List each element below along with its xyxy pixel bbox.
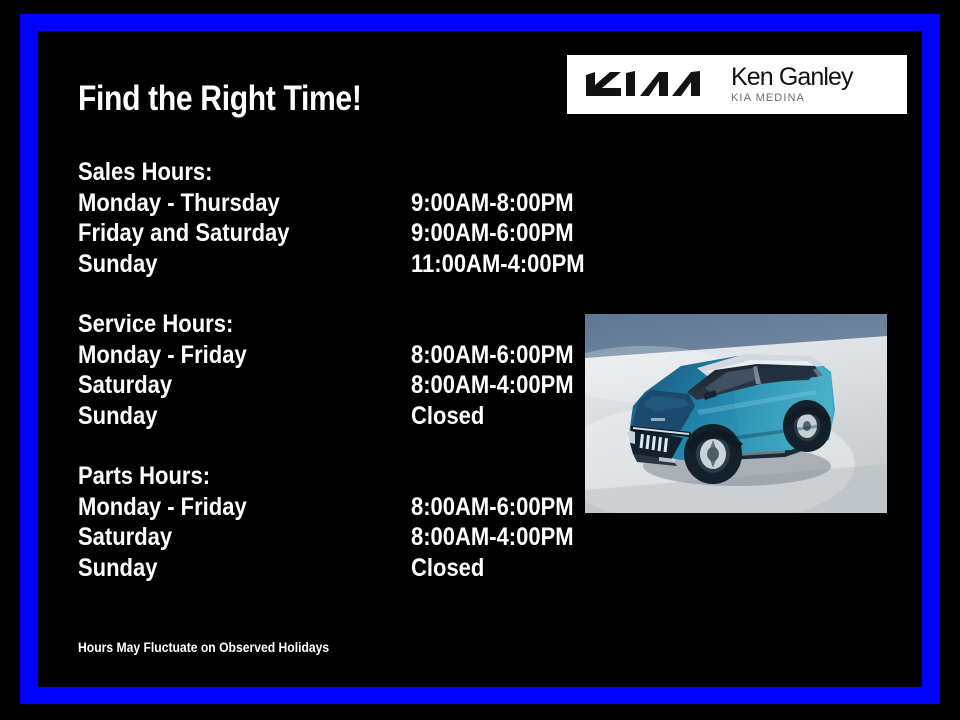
day-label: Sunday bbox=[78, 553, 157, 584]
time-value: 9:00AM-8:00PM bbox=[411, 188, 574, 219]
time-value: 9:00AM-6:00PM bbox=[411, 218, 574, 249]
dealer-logo-panel: Ken Ganley KIA MEDINA bbox=[567, 55, 907, 114]
hours-row: Sunday 11:00AM-4:00PM bbox=[78, 249, 231, 280]
hours-section-parts: Parts Hours: Monday - Friday 8:00AM-6:00… bbox=[78, 461, 228, 583]
time-value: 8:00AM-4:00PM bbox=[411, 370, 574, 401]
hours-section-service: Service Hours: Monday - Friday 8:00AM-6:… bbox=[78, 309, 254, 431]
time-value: Closed bbox=[411, 401, 484, 432]
hours-row: Monday - Thursday 9:00AM-8:00PM bbox=[78, 188, 231, 219]
day-label: Monday - Friday bbox=[78, 340, 247, 371]
dealer-location: KIA MEDINA bbox=[731, 93, 853, 104]
day-label: Saturday bbox=[78, 370, 172, 401]
hours-row: Monday - Friday 8:00AM-6:00PM bbox=[78, 340, 254, 371]
hours-row: Monday - Friday 8:00AM-6:00PM bbox=[78, 492, 228, 523]
time-value: 8:00AM-6:00PM bbox=[411, 492, 574, 523]
day-label: Sunday bbox=[78, 401, 157, 432]
hours-row: Saturday 8:00AM-4:00PM bbox=[78, 522, 228, 553]
time-value: 8:00AM-4:00PM bbox=[411, 522, 574, 553]
hours-section-sales: Sales Hours: Monday - Thursday 9:00AM-8:… bbox=[78, 157, 231, 279]
kia-ev9-suv-photo bbox=[585, 314, 887, 513]
time-value: 11:00AM-4:00PM bbox=[411, 249, 585, 280]
dealer-name-block: Ken Ganley KIA MEDINA bbox=[731, 65, 853, 104]
section-heading: Sales Hours: bbox=[78, 157, 213, 188]
slide-root: Find the Right Time! Sales Hours: Monday… bbox=[0, 0, 960, 720]
page-title: Find the Right Time! bbox=[78, 79, 362, 119]
section-heading: Parts Hours: bbox=[78, 461, 210, 492]
kia-logo-icon bbox=[584, 70, 702, 100]
hours-row: Sunday Closed bbox=[78, 553, 228, 584]
day-label: Friday and Saturday bbox=[78, 218, 290, 249]
dealer-name: Ken Ganley bbox=[731, 65, 853, 90]
day-label: Saturday bbox=[78, 522, 172, 553]
hours-row: Saturday 8:00AM-4:00PM bbox=[78, 370, 254, 401]
time-value: 8:00AM-6:00PM bbox=[411, 340, 574, 371]
hours-row: Friday and Saturday 9:00AM-6:00PM bbox=[78, 218, 231, 249]
day-label: Monday - Thursday bbox=[78, 188, 280, 219]
footer-disclaimer: Hours May Fluctuate on Observed Holidays bbox=[78, 640, 329, 655]
day-label: Sunday bbox=[78, 249, 157, 280]
day-label: Monday - Friday bbox=[78, 492, 247, 523]
time-value: Closed bbox=[411, 553, 484, 584]
section-heading: Service Hours: bbox=[78, 309, 233, 340]
hours-row: Sunday Closed bbox=[78, 401, 254, 432]
